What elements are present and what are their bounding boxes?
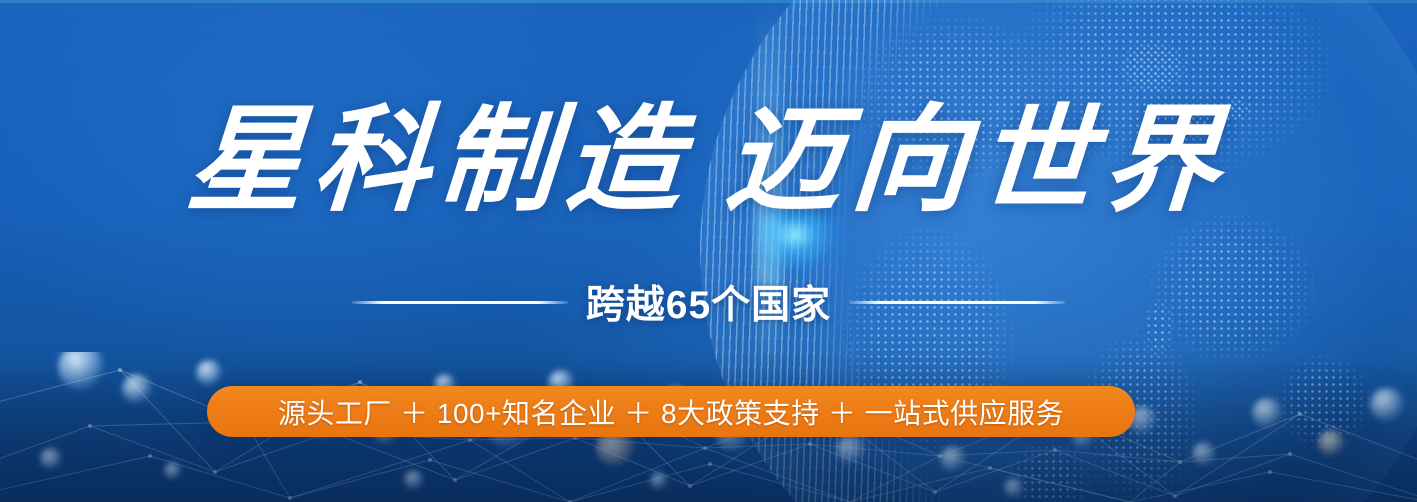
promo-banner: 星科制造迈向世界 跨越65个国家 源头工厂 ＋ 100+知名企业 ＋ 8大政策支…	[0, 0, 1417, 502]
banner-content: 星科制造迈向世界 跨越65个国家 源头工厂 ＋ 100+知名企业 ＋ 8大政策支…	[0, 0, 1417, 502]
features-pill-banner[interactable]: 源头工厂 ＋ 100+知名企业 ＋ 8大政策支持 ＋ 一站式供应服务	[207, 386, 1135, 437]
left-rule	[352, 301, 568, 304]
headline-part-1: 星科制造	[183, 98, 696, 226]
subtitle: 跨越65个国家	[582, 274, 835, 330]
headline-part-2: 迈向世界	[721, 98, 1234, 226]
headline: 星科制造迈向世界	[0, 104, 1417, 220]
right-rule	[849, 301, 1065, 304]
features-pill-text: 源头工厂 ＋ 100+知名企业 ＋ 8大政策支持 ＋ 一站式供应服务	[278, 392, 1064, 432]
subtitle-row: 跨越65个国家	[0, 274, 1417, 330]
